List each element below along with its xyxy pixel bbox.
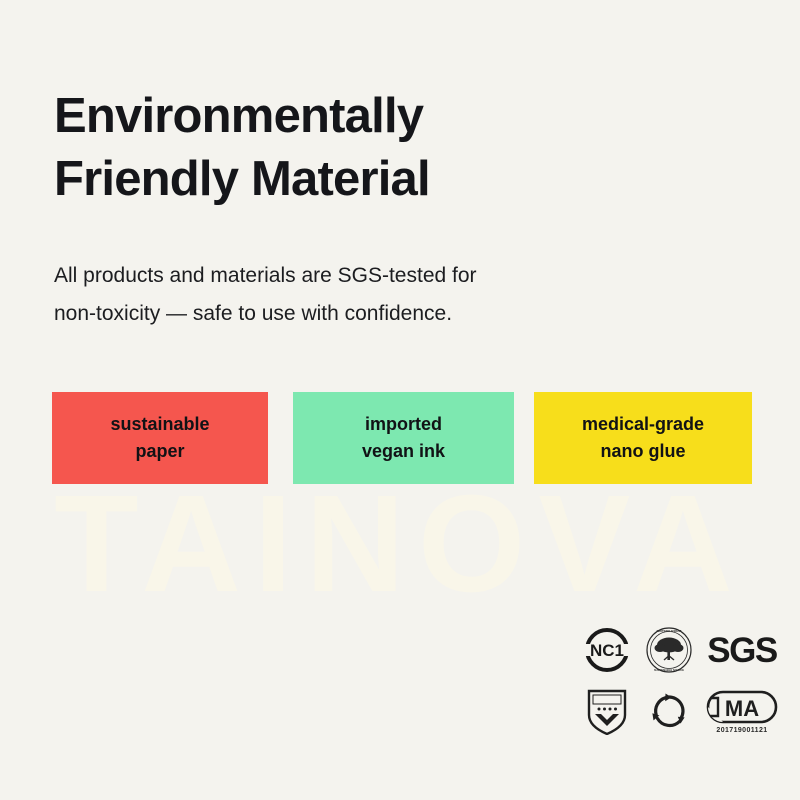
sgs-wordmark: SGS — [707, 633, 776, 668]
shield-quality-badge — [576, 680, 638, 742]
page-subcopy-line-1: All products and materials are SGS-teste… — [54, 257, 674, 295]
material-chip-imported-vegan-ink: imported vegan ink — [293, 392, 514, 484]
material-chip-medical-grade-nano-glue: medical-grade nano glue — [534, 392, 752, 484]
svg-text:MA: MA — [725, 696, 759, 721]
svg-text:NC1: NC1 — [590, 641, 624, 660]
material-chip-line-2: paper — [135, 438, 184, 465]
forest-seal-badge: CERTIFIED FOREST SUSTAINABLE SOURCE — [638, 620, 700, 680]
material-chip-line-1: medical-grade — [582, 411, 704, 438]
shield-icon — [586, 687, 628, 735]
svg-text:SUSTAINABLE SOURCE: SUSTAINABLE SOURCE — [654, 668, 684, 672]
svg-text:CERTIFIED FOREST: CERTIFIED FOREST — [657, 629, 682, 633]
material-chip-group: sustainable paper imported vegan ink med… — [52, 392, 752, 484]
material-chip-sustainable-paper: sustainable paper — [52, 392, 268, 484]
sgs-certification-badge: SGS — [700, 620, 784, 680]
page-title: Environmentally Friendly Material — [54, 85, 694, 210]
cma-certification-badge: MA 201719001121 — [700, 680, 784, 742]
nc1-certification-badge: NC1 — [576, 620, 638, 680]
page-subcopy: All products and materials are SGS-teste… — [54, 257, 674, 333]
material-chip-line-2: vegan ink — [362, 438, 445, 465]
nc1-icon: NC1 — [584, 627, 630, 673]
brand-watermark: TAINOVA — [0, 474, 800, 614]
cma-icon: MA — [706, 689, 778, 725]
page-title-line-1: Environmentally — [54, 85, 694, 148]
material-chip-line-1: imported — [365, 411, 442, 438]
recycle-symbol-badge — [638, 680, 700, 742]
material-chip-line-2: nano glue — [601, 438, 686, 465]
material-chip-line-1: sustainable — [110, 411, 209, 438]
recycle-icon — [646, 688, 692, 734]
tree-seal-icon: CERTIFIED FOREST SUSTAINABLE SOURCE — [645, 626, 693, 674]
poster-canvas: TAINOVA Environmentally Friendly Materia… — [0, 0, 800, 800]
page-title-line-2: Friendly Material — [54, 148, 694, 211]
cma-certificate-number: 201719001121 — [716, 727, 767, 734]
page-subcopy-line-2: non-toxicity — safe to use with confiden… — [54, 295, 674, 333]
certification-badge-group: NC1 CERTIFIED FOREST SUSTAINABLE SOURCE — [576, 620, 784, 746]
